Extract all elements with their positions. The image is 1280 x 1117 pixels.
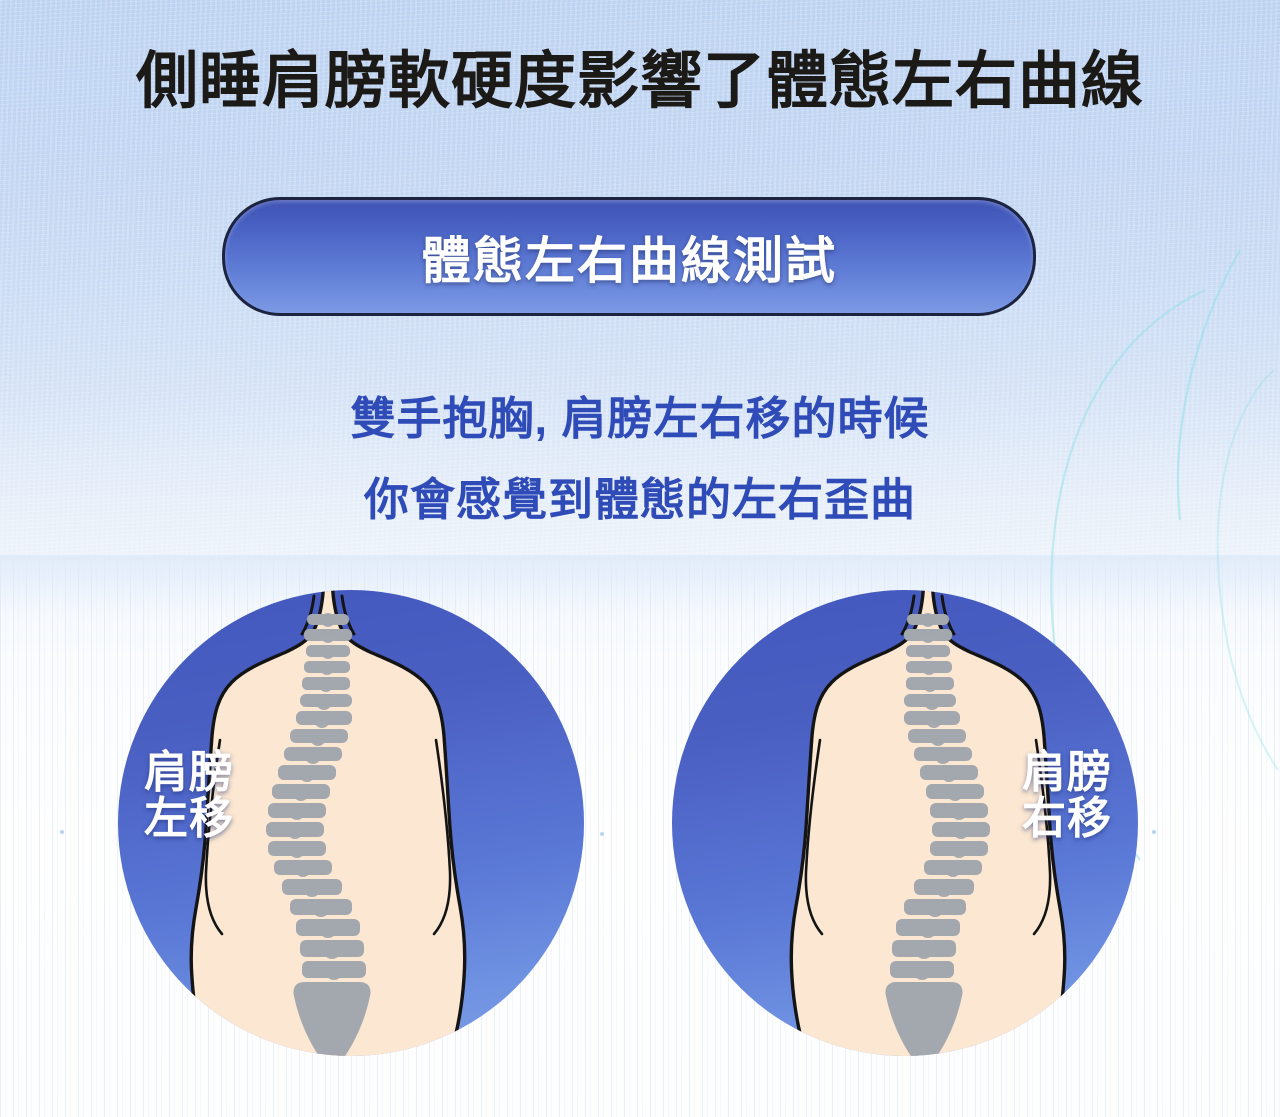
instruction-line-2: 你會感覺到體態的左右歪曲 — [0, 463, 1280, 528]
test-badge[interactable]: 體態左右曲線測試 — [222, 197, 1036, 316]
panel-left-shift: 肩膀 左移 — [118, 590, 584, 1056]
panel-left-label-line1: 肩膀 — [144, 750, 234, 796]
sparkle-dot — [60, 830, 64, 834]
instruction-line-1: 雙手抱胸, 肩膀左右移的時候 — [0, 382, 1280, 447]
sparkle-dot — [600, 832, 604, 836]
panel-right-label-line1: 肩膀 — [1022, 750, 1112, 796]
test-badge-label: 體態左右曲線測試 — [421, 221, 837, 293]
panel-left-label: 肩膀 左移 — [144, 750, 234, 842]
panel-right-shift: 肩膀 右移 — [672, 590, 1138, 1056]
panel-left-label-line2: 左移 — [144, 796, 234, 842]
panel-right-label-line2: 右移 — [1022, 796, 1112, 842]
page-title: 側睡肩膀軟硬度影響了體態左右曲線 — [0, 48, 1280, 116]
sparkle-dot — [1152, 830, 1156, 834]
poster-canvas: 側睡肩膀軟硬度影響了體態左右曲線 體態左右曲線測試 雙手抱胸, 肩膀左右移的時候… — [0, 0, 1280, 1117]
panel-right-label: 肩膀 右移 — [1022, 750, 1112, 842]
